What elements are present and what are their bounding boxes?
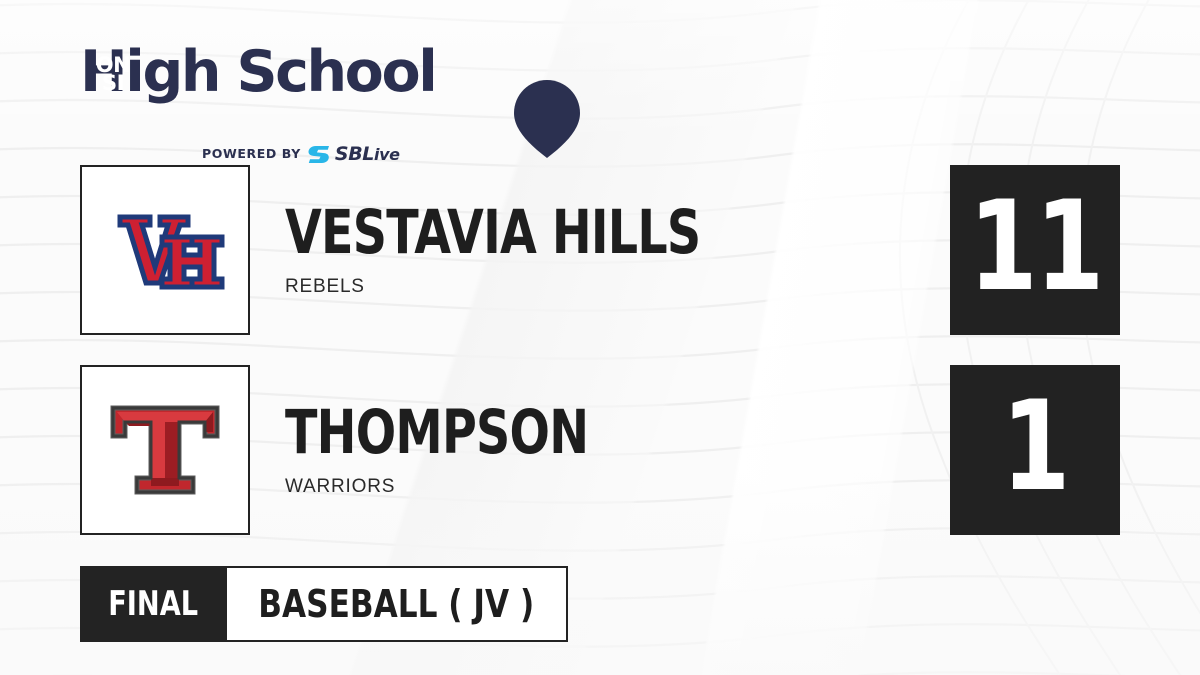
team-mascot: WARRIORS <box>285 476 674 498</box>
team-text-block: VESTAVIA HILLS REBELS <box>285 165 818 335</box>
status-badge: FINAL <box>80 566 227 642</box>
sblive-wordmark: SBLive <box>335 144 400 165</box>
powered-by-row: POWERED BY SBLive <box>202 144 400 164</box>
team-score: 11 <box>968 185 1101 309</box>
team-name: THOMPSON <box>285 402 588 464</box>
pin-text-si: SI <box>80 73 146 93</box>
on-si-pin-icon <box>514 80 580 158</box>
team-mascot: REBELS <box>285 276 818 298</box>
scoreboard-graphic: High School ON SI POWERED BY SBLive <box>0 0 1200 675</box>
team-score: 1 <box>1002 385 1069 509</box>
team-score-box: 11 <box>950 165 1120 335</box>
thompson-t-logo-icon <box>109 402 221 498</box>
sport-label: BASEBALL ( JV ) <box>259 584 535 624</box>
team-text-block: THOMPSON WARRIORS <box>285 365 674 535</box>
team-score-box: 1 <box>950 365 1120 535</box>
sblive-s-icon <box>308 145 330 164</box>
status-state-label: FINAL <box>109 586 199 622</box>
team-name: VESTAVIA HILLS <box>285 202 700 264</box>
team-logo-frame <box>80 165 250 335</box>
vestavia-hills-vh-logo-icon <box>102 187 228 313</box>
powered-by-label: POWERED BY <box>202 147 301 161</box>
sport-panel: BASEBALL ( JV ) <box>227 566 568 642</box>
team-logo-frame <box>80 365 250 535</box>
game-status-bar: FINAL BASEBALL ( JV ) <box>80 566 568 642</box>
brand-logo: High School ON SI POWERED BY SBLive <box>80 38 510 130</box>
